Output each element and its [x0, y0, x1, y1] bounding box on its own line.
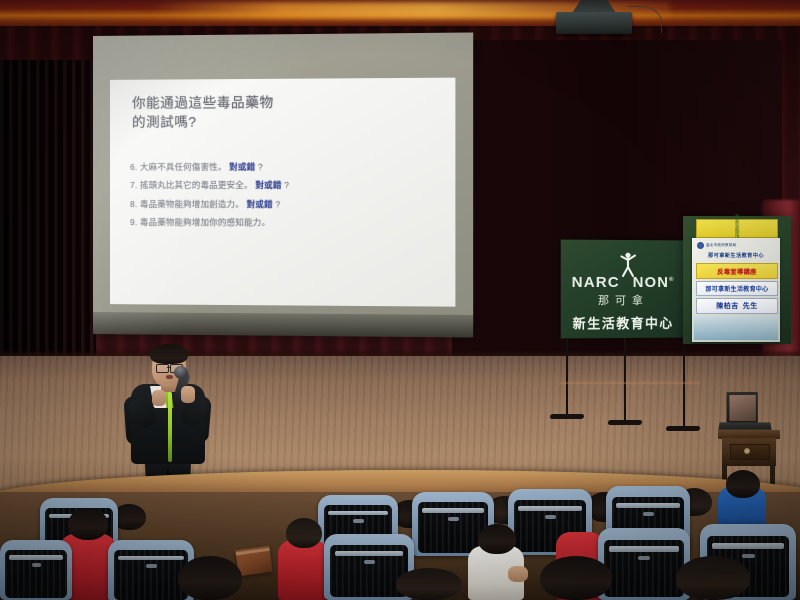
list-item: 6. 大麻不具任何傷害性。 對或錯 ?	[130, 157, 437, 176]
drawer-knob-icon	[744, 448, 750, 454]
seat-light-strip	[609, 546, 679, 552]
banner-stand-foot	[550, 414, 585, 419]
stage-back-rail-light	[560, 382, 700, 384]
item-answer: 對或錯	[247, 199, 273, 209]
seat-light-strip	[422, 508, 484, 513]
projection-screen: 你能通過這些毒品藥物 的測試嗎? 6. 大麻不具任何傷害性。 對或錯 ? 7. …	[93, 32, 473, 337]
poster-speaker-honorific: 先生	[743, 301, 758, 311]
speaker-jacket-zipper	[168, 392, 172, 462]
glasses-icon	[156, 364, 169, 373]
seat-tab	[364, 560, 376, 564]
poster-headline: 反毒宣導講座	[717, 267, 757, 276]
booklet-page-edge	[236, 548, 270, 556]
banner-stand-foot	[666, 426, 701, 431]
audience-head-foreground	[178, 556, 242, 600]
seat-tab	[742, 554, 754, 559]
slide-question-list: 6. 大麻不具任何傷害性。 對或錯 ? 7. 搖頭丸比其它的毒品更安全。 對或錯…	[130, 157, 437, 232]
side-table-drawer	[730, 444, 770, 460]
poster-host-band: 那可拿新生活教育中心	[696, 281, 778, 296]
item-text: 大麻不具任何傷害性。	[140, 162, 227, 172]
seat-light-strip	[712, 543, 785, 549]
item-answer: 對或錯	[255, 180, 281, 190]
left-curtain-fold-texture	[0, 60, 96, 360]
poster-welcome-banner: 歡迎蒞臨指導	[696, 219, 778, 238]
auditorium-seat[interactable]	[0, 540, 72, 600]
item-text: 毒品藥物能夠增加你的感知能力。	[140, 217, 270, 227]
narconon-wordmark: NARCONON®	[561, 274, 685, 291]
list-item: 7. 搖頭丸比其它的毒品更安全。 對或錯 ?	[130, 176, 437, 195]
seat-tab	[643, 512, 654, 516]
seat-light-strip	[335, 551, 403, 556]
slide-title-line-2: 的測試嗎?	[132, 112, 428, 133]
presentation-slide: 你能通過這些毒品藥物 的測試嗎? 6. 大麻不具任何傷害性。 對或錯 ? 7. …	[110, 78, 455, 307]
audience-person-torso	[278, 540, 328, 600]
audience-head	[478, 524, 516, 554]
item-number: 8.	[130, 199, 137, 209]
item-text: 毒品藥物能夠增加創造力。	[140, 199, 244, 209]
registered-mark-icon: ®	[669, 277, 675, 283]
item-suffix: ?	[258, 162, 263, 172]
item-answer: 對或錯	[229, 162, 255, 172]
poster-speaker-name: 陳柏吉	[716, 301, 739, 311]
slide-title: 你能通過這些毒品藥物 的測試嗎?	[132, 92, 428, 132]
projector-icon	[556, 12, 632, 34]
speaker-left-hand	[152, 390, 166, 406]
event-poster-standee: 歡迎蒞臨指導 臺北市政府教育局 那可拿新生活教育中心 反毒宣導講座 那可拿新生活…	[683, 216, 791, 344]
seat-tab	[32, 563, 41, 567]
screen-bottom-bar	[93, 312, 473, 338]
laptop-keyboard-base	[718, 422, 771, 429]
poster-speaker-band: 陳柏吉 先生	[696, 298, 778, 314]
audience-head-foreground	[396, 568, 462, 600]
banner-stand-leg	[624, 338, 626, 424]
auditorium-seat[interactable]	[598, 528, 690, 600]
audience-head-foreground	[676, 556, 750, 600]
item-text: 搖頭丸比其它的毒品更安全。	[140, 180, 253, 190]
banner-stand-leg	[683, 344, 685, 430]
seat-light-strip	[616, 503, 680, 508]
item-number: 6.	[130, 162, 137, 172]
poster-paper: 臺北市政府教育局 那可拿新生活教育中心 反毒宣導講座 那可拿新生活教育中心 陳柏…	[692, 238, 780, 342]
item-suffix: ?	[275, 199, 280, 209]
seat-light-strip	[9, 555, 64, 560]
seat-tab	[448, 517, 459, 521]
list-item: 8. 毒品藥物能夠增加創造力。 對或錯 ?	[130, 195, 437, 214]
poster-host: 那可拿新生活教育中心	[705, 284, 768, 293]
audience-head-foreground	[540, 556, 612, 600]
audience-head	[726, 470, 760, 498]
speaker-mouth	[166, 375, 173, 379]
poster-org-row: 臺北市政府教育局	[697, 241, 775, 250]
poster-footer-graphic	[694, 316, 778, 340]
poster-headline-band: 反毒宣導講座	[696, 263, 778, 279]
auditorium-photo-scene: 你能通過這些毒品藥物 的測試嗎? 6. 大麻不具任何傷害性。 對或錯 ? 7. …	[0, 0, 800, 600]
seat-light-strip	[518, 506, 582, 511]
narconon-banner: NARCONON® 那可拿 新生活教育中心	[561, 240, 685, 339]
glasses-bridge	[167, 367, 170, 368]
seat-tab	[638, 556, 650, 560]
laptop-screen	[729, 394, 755, 420]
seat-tab	[545, 515, 556, 519]
narconon-wordmark-tail: NON	[633, 274, 669, 291]
audience-head	[68, 508, 108, 540]
narconon-wordmark-head: NARC	[572, 274, 620, 291]
seat-tab	[353, 519, 363, 523]
seat-tab	[146, 564, 157, 568]
item-number: 9.	[130, 217, 137, 227]
banner-stand-foot	[608, 420, 643, 425]
item-number: 7.	[130, 180, 137, 190]
speaker-right-hand	[181, 386, 195, 403]
poster-organization: 臺北市政府教育局	[706, 243, 736, 248]
slide-title-line-1: 你能通過這些毒品藥物	[132, 92, 428, 113]
audience-head	[286, 518, 322, 548]
list-item: 9. 毒品藥物能夠增加你的感知能力。	[130, 213, 437, 232]
narconon-center-name: 新生活教育中心	[561, 313, 685, 333]
audience-hand	[508, 566, 528, 582]
poster-subheading: 那可拿新生活教育中心	[697, 252, 775, 259]
government-seal-icon	[697, 242, 704, 249]
laptop-icon	[727, 392, 758, 424]
banner-stand-leg	[566, 338, 568, 418]
item-suffix: ?	[284, 180, 289, 190]
narconon-chinese-name: 那可拿	[561, 292, 685, 308]
speaker-hair	[150, 344, 188, 364]
seat-light-strip	[118, 556, 183, 561]
seat-light-strip	[328, 511, 389, 516]
